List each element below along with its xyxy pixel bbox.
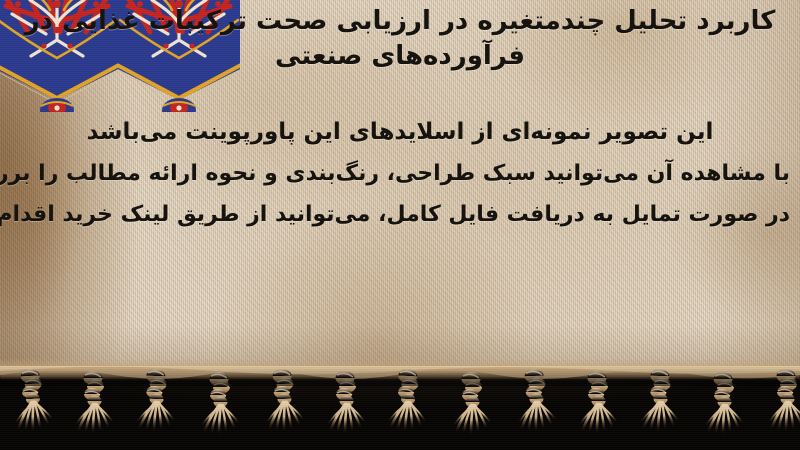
- carpet-fringe-border: [0, 366, 800, 450]
- slide-body-line-2: با مشاهده آن می‌توانید سبک طراحی، رنگ‌بن…: [10, 153, 790, 194]
- slide-body: این تصویر نمونه‌ای از اسلایدهای این پاور…: [0, 112, 800, 235]
- fringe-tassels-icon: [0, 366, 800, 450]
- slide-canvas: کاربرد تحلیل چندمتغیره در ارزیابی صحت تر…: [0, 0, 800, 450]
- slide-title-line-2: فرآورده‌های صنعتی: [8, 39, 792, 74]
- slide-title-line-1: کاربرد تحلیل چندمتغیره در ارزیابی صحت تر…: [8, 4, 792, 39]
- slide-title: کاربرد تحلیل چندمتغیره در ارزیابی صحت تر…: [0, 4, 800, 74]
- slide-body-line-1: این تصویر نمونه‌ای از اسلایدهای این پاور…: [10, 112, 790, 153]
- slide-body-line-3: در صورت تمایل به دریافت فایل کامل، می‌تو…: [10, 194, 790, 235]
